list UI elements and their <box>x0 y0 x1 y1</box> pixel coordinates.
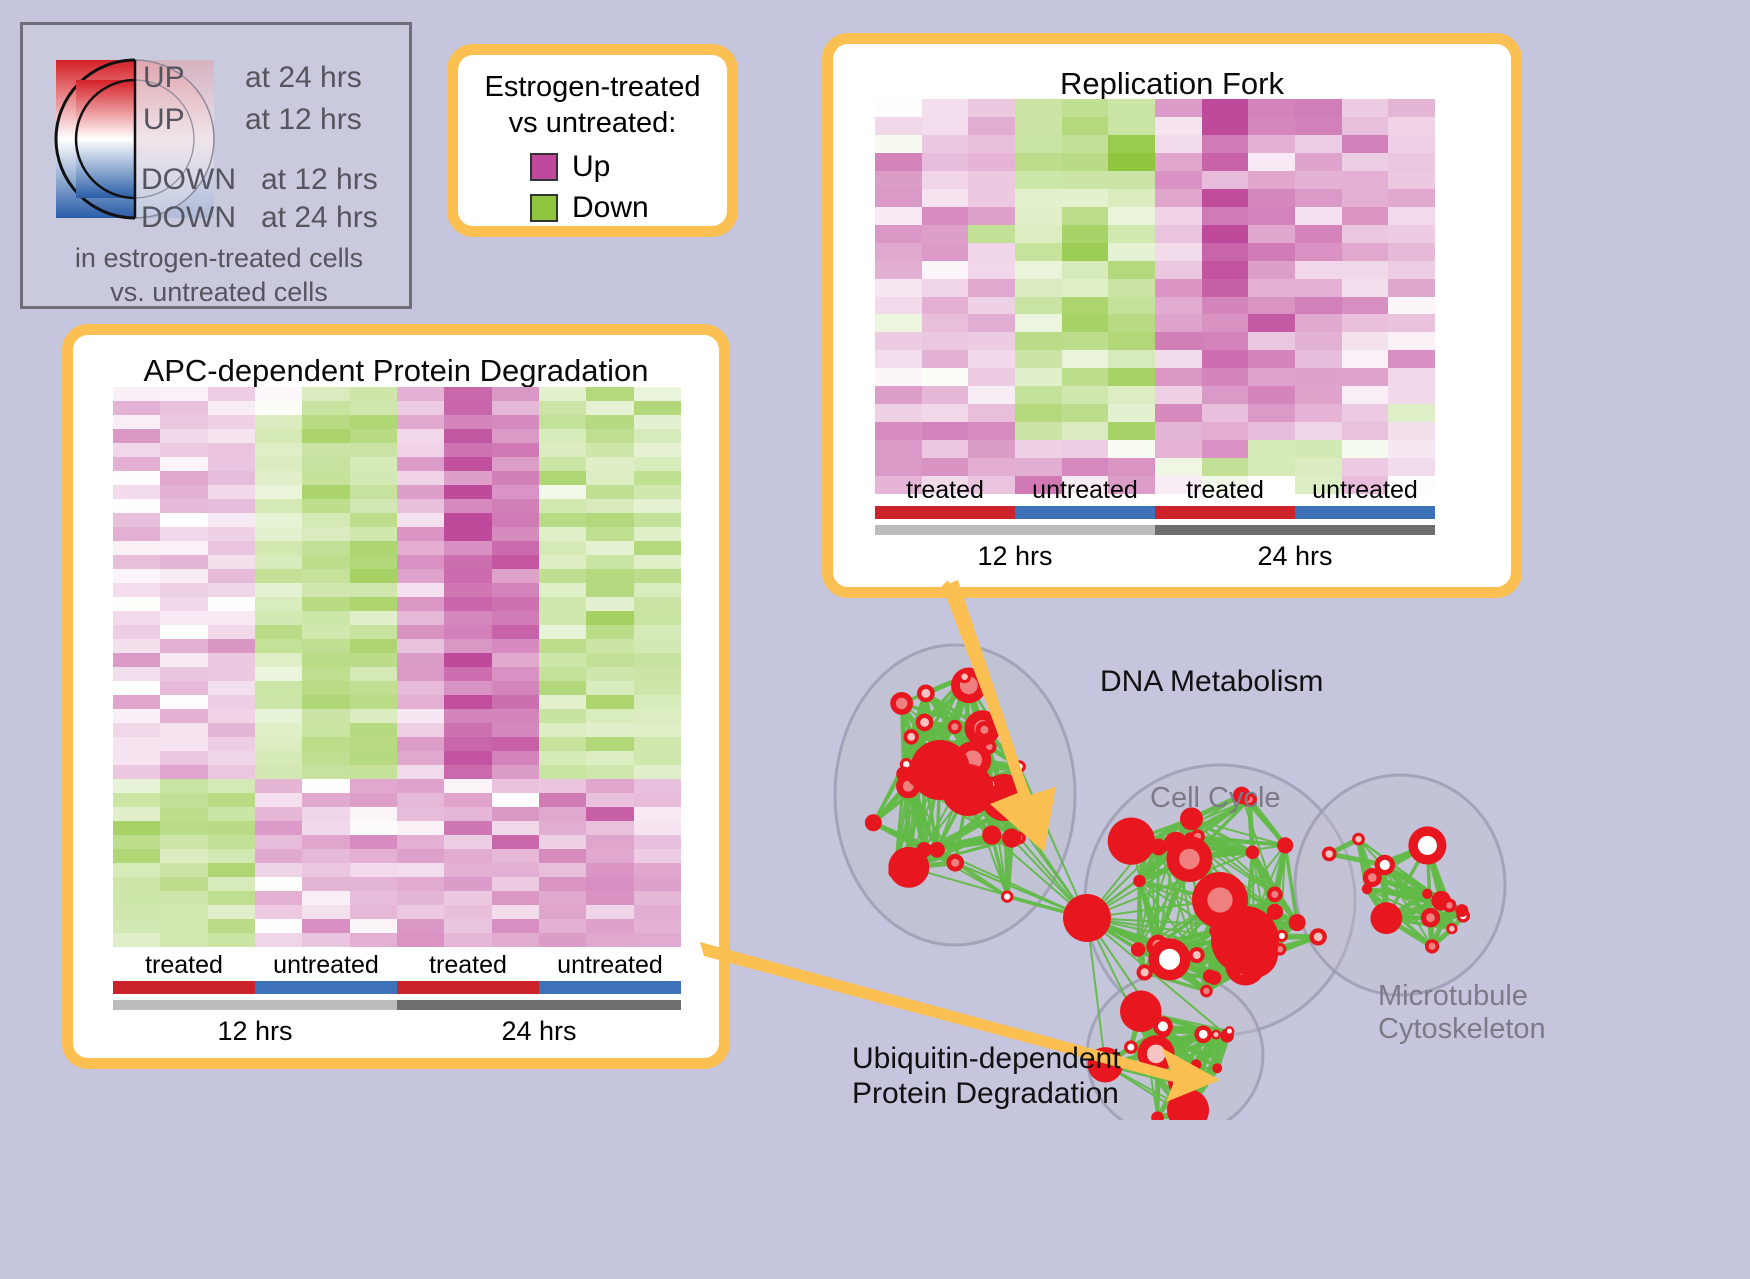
heatmap-cell <box>1062 279 1109 297</box>
heatmap-cell <box>492 513 539 527</box>
heatmap-cell <box>160 401 207 415</box>
heatmap-cell <box>1202 332 1249 350</box>
heatmap-cell <box>160 471 207 485</box>
heatmap-cell <box>634 681 681 695</box>
heatmap-cell <box>208 499 255 513</box>
heatmap-cell <box>586 793 633 807</box>
heatmap-cell <box>1202 350 1249 368</box>
heatmap-cell <box>492 751 539 765</box>
heatmap-cell <box>586 639 633 653</box>
heatmap-cell <box>492 611 539 625</box>
heatmap-cell <box>255 387 302 401</box>
group-bar-untreated-12 <box>255 981 397 994</box>
key-footer-line2: vs. untreated cells <box>23 277 415 308</box>
heatmap-cell <box>1155 422 1202 440</box>
heatmap-cell <box>1388 207 1435 225</box>
heatmap-cell <box>586 667 633 681</box>
heatmap-cell <box>1062 440 1109 458</box>
heatmap-cell <box>586 681 633 695</box>
heatmap-cell <box>539 905 586 919</box>
heatmap-cell <box>539 667 586 681</box>
heatmap-cell <box>113 611 160 625</box>
heatmap-cell <box>1248 368 1295 386</box>
heatmap-cell <box>586 625 633 639</box>
heatmap-cell <box>1388 404 1435 422</box>
heatmap-cell <box>1388 225 1435 243</box>
heatmap-cell <box>968 350 1015 368</box>
heatmap-cell <box>586 527 633 541</box>
heatmap-cell <box>1388 261 1435 279</box>
heatmap-cell <box>444 527 491 541</box>
legend-label-down: Down <box>572 191 649 225</box>
heatmap-cell <box>208 821 255 835</box>
heatmap-cell <box>208 555 255 569</box>
heatmap-cell <box>1202 404 1249 422</box>
heatmap-cell <box>208 429 255 443</box>
heatmap-cell <box>350 891 397 905</box>
heatmap-cell <box>1155 386 1202 404</box>
heatmap-cell <box>350 821 397 835</box>
heatmap-cell <box>1342 404 1389 422</box>
heatmap-cell <box>1202 440 1249 458</box>
heatmap-cell <box>1248 153 1295 171</box>
heatmap-cell <box>922 422 969 440</box>
heatmap-cell <box>444 457 491 471</box>
column-label-untreated-24: untreated <box>1295 476 1435 505</box>
heatmap-cell <box>444 695 491 709</box>
heatmap-cell <box>160 793 207 807</box>
heatmap-cell <box>492 429 539 443</box>
heatmap-cell <box>492 821 539 835</box>
heatmap-cell <box>113 765 160 779</box>
heatmap-cell <box>1248 314 1295 332</box>
heatmap-cell <box>968 297 1015 315</box>
heatmap-cell <box>586 387 633 401</box>
heatmap-cell <box>444 905 491 919</box>
heatmap-cell <box>875 458 922 476</box>
heatmap-cell <box>444 681 491 695</box>
group-bar-untreated-12 <box>1015 506 1155 519</box>
heatmap-cell <box>492 765 539 779</box>
heatmap-cell <box>1062 99 1109 117</box>
heatmap-cell <box>113 401 160 415</box>
heatmap-cell <box>255 639 302 653</box>
heatmap-cell <box>113 387 160 401</box>
heatmap-cell <box>1015 117 1062 135</box>
heatmap-cell <box>397 555 444 569</box>
heatmap-cell <box>1015 422 1062 440</box>
heatmap-cell <box>302 905 349 919</box>
heatmap-cell <box>302 625 349 639</box>
heatmap-cell <box>586 653 633 667</box>
column-label-untreated-24: untreated <box>539 951 681 980</box>
heatmap-cell <box>539 513 586 527</box>
heatmap-cell <box>1295 225 1342 243</box>
heatmap-cell <box>586 919 633 933</box>
heatmap-cell <box>492 653 539 667</box>
heatmap-cell <box>492 919 539 933</box>
heatmap-cell <box>255 681 302 695</box>
heatmap-cell <box>208 891 255 905</box>
heatmap-cell <box>444 569 491 583</box>
heatmap-cell <box>160 499 207 513</box>
heatmap-cell <box>255 499 302 513</box>
heatmap-cell <box>539 919 586 933</box>
heatmap-cell <box>302 485 349 499</box>
heatmap-cell <box>208 737 255 751</box>
heatmap-cell <box>586 737 633 751</box>
heatmap-cell <box>1295 207 1342 225</box>
heatmap-cell <box>539 387 586 401</box>
heatmap-cell <box>444 793 491 807</box>
heatmap-cell <box>1388 440 1435 458</box>
heatmap-cell <box>1108 135 1155 153</box>
heatmap-cell <box>1108 386 1155 404</box>
heatmap-cell <box>586 849 633 863</box>
heatmap-cell <box>1155 261 1202 279</box>
heatmap-cell <box>634 891 681 905</box>
heatmap-cell <box>875 153 922 171</box>
heatmap-cell <box>397 765 444 779</box>
heatmap-cell <box>1248 243 1295 261</box>
heatmap-cell <box>1155 207 1202 225</box>
updown-legend-panel: Estrogen-treated vs untreated: Up Down <box>447 44 738 237</box>
heatmap-cell <box>492 457 539 471</box>
key-time-24: at 24 hrs <box>245 61 362 95</box>
heatmap-cell <box>113 877 160 891</box>
heatmap-cell <box>539 835 586 849</box>
heatmap-cell <box>1248 99 1295 117</box>
page-title-apc: APC-dependent Protein Degradation <box>73 353 719 389</box>
heatmap-cell <box>1062 350 1109 368</box>
heatmap-cell <box>113 471 160 485</box>
heatmap-cell <box>302 709 349 723</box>
heatmap-cell <box>113 583 160 597</box>
heatmap-cell <box>444 737 491 751</box>
heatmap-cell <box>113 723 160 737</box>
heatmap-cell <box>1295 117 1342 135</box>
heatmap-cell <box>875 243 922 261</box>
heatmap-cell <box>208 653 255 667</box>
heatmap-cell <box>492 905 539 919</box>
heatmap-cell <box>1202 207 1249 225</box>
heatmap-cell <box>444 597 491 611</box>
heatmap-cell <box>875 332 922 350</box>
heatmap-cell <box>968 189 1015 207</box>
heatmap-cell <box>1248 440 1295 458</box>
heatmap-cell <box>539 793 586 807</box>
heatmap-cell <box>1155 404 1202 422</box>
heatmap-cell <box>1015 243 1062 261</box>
heatmap-cell <box>922 153 969 171</box>
heatmap-cell <box>922 279 969 297</box>
heatmap-cell <box>302 737 349 751</box>
cluster-label-dna-metabolism: DNA Metabolism <box>1100 665 1323 699</box>
heatmap-cell <box>1248 386 1295 404</box>
heatmap-cell <box>302 793 349 807</box>
cluster-label-cell-cycle: Cell Cycle <box>1150 782 1281 815</box>
heatmap-cell <box>1155 243 1202 261</box>
heatmap-cell <box>1155 135 1202 153</box>
heatmap-cell <box>302 471 349 485</box>
heatmap-cell <box>397 485 444 499</box>
column-label-untreated-12: untreated <box>1015 476 1155 505</box>
heatmap-cell <box>634 751 681 765</box>
heatmap-cell <box>1062 458 1109 476</box>
heatmap-cell <box>302 807 349 821</box>
heatmap-cell <box>1015 440 1062 458</box>
heatmap-cell <box>113 443 160 457</box>
heatmap-cell <box>1342 458 1389 476</box>
heatmap-cell <box>492 793 539 807</box>
heatmap-cell <box>397 611 444 625</box>
heatmap-cell <box>539 737 586 751</box>
heatmap-cell <box>1295 279 1342 297</box>
heatmap-cell <box>539 653 586 667</box>
heatmap-cell <box>1062 297 1109 315</box>
heatmap-cell <box>113 499 160 513</box>
heatmap-cell <box>208 401 255 415</box>
heatmap-cell <box>922 458 969 476</box>
time-label-24hrs: 24 hrs <box>397 1016 681 1047</box>
heatmap-cell <box>302 723 349 737</box>
heatmap-cell <box>350 877 397 891</box>
heatmap-cell <box>350 639 397 653</box>
time-bar-24hrs <box>397 1000 681 1010</box>
heatmap-cell <box>875 135 922 153</box>
heatmap-cell <box>160 527 207 541</box>
heatmap-cell <box>586 485 633 499</box>
heatmap-cell <box>634 877 681 891</box>
heatmap-cell <box>1295 368 1342 386</box>
heatmap-cell <box>539 499 586 513</box>
legend-swatch-up <box>530 153 558 181</box>
heatmap-cell <box>1388 458 1435 476</box>
heatmap-cell <box>208 779 255 793</box>
heatmap-cell <box>492 583 539 597</box>
cluster-label-microtubule-cytoskeleton: Microtubule Cytoskeleton <box>1378 980 1546 1047</box>
legend-item-down: Down <box>530 191 649 225</box>
heatmap-cell <box>492 485 539 499</box>
heatmap-cell <box>160 443 207 457</box>
heatmap-cell <box>1388 368 1435 386</box>
heatmap-cell <box>492 863 539 877</box>
heatmap-cell <box>397 751 444 765</box>
heatmap-cell <box>208 513 255 527</box>
heatmap-cell <box>208 933 255 947</box>
heatmap-cell <box>1342 350 1389 368</box>
heatmap-cell <box>444 499 491 513</box>
heatmap-cell <box>1388 99 1435 117</box>
heatmap-cell <box>350 667 397 681</box>
heatmap-cell <box>255 457 302 471</box>
heatmap-cell <box>922 404 969 422</box>
heatmap-cell <box>1342 332 1389 350</box>
heatmap-cell <box>302 527 349 541</box>
heatmap-cell <box>160 429 207 443</box>
time-label-12hrs: 12 hrs <box>113 1016 397 1047</box>
heatmap-cell <box>255 555 302 569</box>
heatmap-cell <box>539 933 586 947</box>
heatmap-cell <box>208 807 255 821</box>
heatmap-cell <box>255 527 302 541</box>
heatmap-cell <box>922 440 969 458</box>
heatmap-cell <box>113 695 160 709</box>
heatmap-cell <box>1342 99 1389 117</box>
heatmap-cell <box>968 261 1015 279</box>
heatmap-cell <box>160 597 207 611</box>
heatmap-cell <box>350 835 397 849</box>
heatmap-cell <box>634 457 681 471</box>
heatmap-cell <box>255 667 302 681</box>
heatmap-cell <box>255 877 302 891</box>
heatmap-cell <box>350 765 397 779</box>
heatmap-cell <box>922 386 969 404</box>
heatmap-cell <box>539 569 586 583</box>
heatmap-cell <box>302 499 349 513</box>
heatmap-cell <box>350 541 397 555</box>
heatmap-cell <box>208 387 255 401</box>
heatmap-cell <box>1342 153 1389 171</box>
heatmap-cell <box>492 695 539 709</box>
heatmap-cell <box>968 225 1015 243</box>
heatmap-cell <box>539 555 586 569</box>
heatmap-cell <box>875 225 922 243</box>
heatmap-cell <box>1295 189 1342 207</box>
heatmap-cell <box>350 849 397 863</box>
heatmap-cell <box>113 597 160 611</box>
heatmap-cell <box>634 611 681 625</box>
heatmap-cell <box>1202 135 1249 153</box>
heatmap-cell <box>1295 404 1342 422</box>
cluster-label-ubiquitin-line2: Protein Degradation <box>852 1077 1121 1112</box>
heatmap-cell <box>922 297 969 315</box>
heatmap-cell <box>350 415 397 429</box>
heatmap-cell <box>208 905 255 919</box>
heatmap-cell <box>113 919 160 933</box>
heatmap-cell <box>1062 153 1109 171</box>
heatmap-cell <box>208 415 255 429</box>
heatmap-cell <box>208 541 255 555</box>
heatmap-cell <box>586 709 633 723</box>
heatmap-cell <box>539 583 586 597</box>
heatmap-cell <box>586 835 633 849</box>
heatmap-cell <box>1062 422 1109 440</box>
heatmap-cell <box>492 499 539 513</box>
heatmap-cell <box>160 513 207 527</box>
legend-swatch-down <box>530 194 558 222</box>
heatmap-cell <box>875 117 922 135</box>
heatmap-cell <box>1108 261 1155 279</box>
heatmap-cell <box>492 779 539 793</box>
heatmap-cell <box>539 723 586 737</box>
column-label-treated-12: treated <box>875 476 1015 505</box>
heatmap-cell <box>492 541 539 555</box>
heatmap-cell <box>208 457 255 471</box>
heatmap-cell <box>302 555 349 569</box>
heatmap-cell <box>444 835 491 849</box>
heatmap-cell <box>492 625 539 639</box>
time-bar-12hrs <box>113 1000 397 1010</box>
heatmap-cell <box>1062 207 1109 225</box>
heatmap-cell <box>302 779 349 793</box>
heatmap-cell <box>208 471 255 485</box>
heatmap-cell <box>113 737 160 751</box>
heatmap-cell <box>350 387 397 401</box>
heatmap-cell <box>1248 422 1295 440</box>
heatmap-cell <box>444 779 491 793</box>
heatmap-cell <box>1342 261 1389 279</box>
heatmap-cell <box>208 919 255 933</box>
heatmap-cell <box>492 597 539 611</box>
heatmap-cell <box>1342 207 1389 225</box>
heatmap-cell <box>444 751 491 765</box>
heatmap-cell <box>586 443 633 457</box>
heatmap-cell <box>350 401 397 415</box>
heatmap-cell <box>1248 332 1295 350</box>
heatmap-cell <box>1155 117 1202 135</box>
heatmap-cell <box>397 919 444 933</box>
heatmap-cell <box>208 849 255 863</box>
heatmap-cell <box>397 639 444 653</box>
heatmap-cell <box>1388 332 1435 350</box>
heatmap-cell <box>968 135 1015 153</box>
heatmap-cell <box>350 793 397 807</box>
heatmap-cell <box>444 429 491 443</box>
heatmap-cell <box>397 849 444 863</box>
heatmap-cell <box>1062 332 1109 350</box>
heatmap-cell <box>875 404 922 422</box>
heatmap-cell <box>350 863 397 877</box>
heatmap-cell <box>586 569 633 583</box>
heatmap-cell <box>968 368 1015 386</box>
heatmap-cell <box>1202 189 1249 207</box>
heatmap-cell <box>492 569 539 583</box>
heatmap-cell <box>444 415 491 429</box>
heatmap-cell <box>160 611 207 625</box>
heatmap-cell <box>1342 225 1389 243</box>
heatmap-cell <box>539 485 586 499</box>
heatmap-cell <box>208 877 255 891</box>
heatmap-cell <box>255 765 302 779</box>
time-label-12hrs: 12 hrs <box>875 541 1155 572</box>
heatmap-cell <box>1342 422 1389 440</box>
heatmap-cell <box>634 863 681 877</box>
key-state-up-24: UP <box>143 61 185 95</box>
heatmap-cell <box>586 415 633 429</box>
heatmap-cell <box>1295 458 1342 476</box>
heatmap-cell <box>1108 332 1155 350</box>
heatmap-cell <box>1015 153 1062 171</box>
heatmap-cell <box>968 99 1015 117</box>
heatmap-cell <box>492 443 539 457</box>
heatmap-cell <box>160 681 207 695</box>
heatmap-cell <box>160 863 207 877</box>
heatmap-cell <box>208 485 255 499</box>
heatmap-cell <box>875 350 922 368</box>
key-time-12: at 12 hrs <box>245 103 362 137</box>
heatmap-cell <box>302 653 349 667</box>
heatmap-cell <box>492 891 539 905</box>
time-bar-24hrs <box>1155 525 1435 535</box>
heatmap-cell <box>1062 171 1109 189</box>
heatmap-cell <box>586 499 633 513</box>
heatmap-cell <box>586 905 633 919</box>
heatmap-cell <box>302 891 349 905</box>
heatmap-cell <box>160 723 207 737</box>
heatmap-cell <box>1388 314 1435 332</box>
heatmap-cell <box>397 779 444 793</box>
